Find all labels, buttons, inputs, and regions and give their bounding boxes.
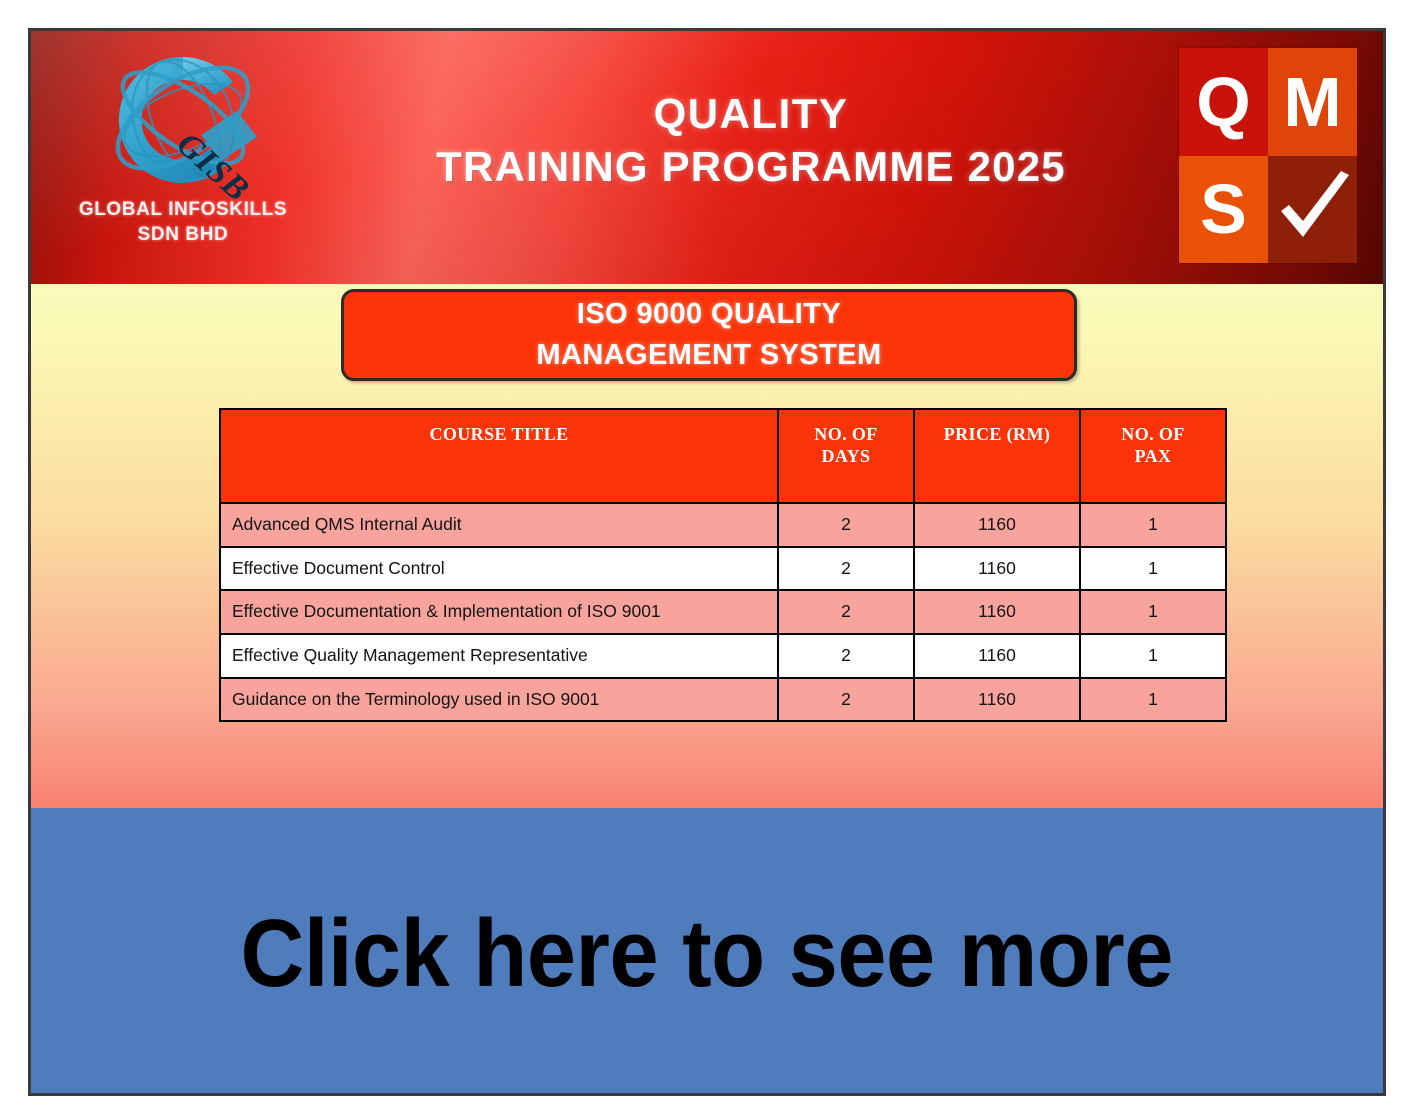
column-header-course-title: COURSE TITLE [220, 409, 778, 503]
cell-pax: 1 [1080, 503, 1226, 547]
company-name-line2: SDN BHD [53, 222, 313, 247]
cell-days: 2 [778, 547, 914, 591]
qms-letter-s: S [1179, 156, 1268, 264]
table-row: Effective Document Control 2 1160 1 [220, 547, 1226, 591]
course-table: COURSE TITLE NO. OF DAYS PRICE (RM) NO. … [219, 408, 1227, 722]
company-logo-block: GISB GLOBAL INFOSKILLS SDN BHD [53, 43, 313, 247]
section-banner-line1: ISO 9000 QUALITY [577, 294, 841, 335]
column-header-no-of-pax-line2: PAX [1135, 446, 1172, 466]
column-header-no-of-days: NO. OF DAYS [778, 409, 914, 503]
cell-course-title: Advanced QMS Internal Audit [220, 503, 778, 547]
cell-pax: 1 [1080, 547, 1226, 591]
cell-price: 1160 [914, 590, 1080, 634]
content-area: ISO 9000 QUALITY MANAGEMENT SYSTEM COURS… [31, 284, 1383, 814]
table-row: Effective Quality Management Representat… [220, 634, 1226, 678]
cell-pax: 1 [1080, 590, 1226, 634]
company-name: GLOBAL INFOSKILLS SDN BHD [53, 197, 313, 247]
cell-course-title: Effective Documentation & Implementation… [220, 590, 778, 634]
globe-icon: GISB [83, 43, 283, 203]
cell-days: 2 [778, 678, 914, 722]
page-title-line2: TRAINING PROGRAMME 2025 [331, 139, 1171, 196]
page-title-line1: QUALITY [331, 89, 1171, 139]
cell-price: 1160 [914, 678, 1080, 722]
cell-course-title: Effective Document Control [220, 547, 778, 591]
section-banner: ISO 9000 QUALITY MANAGEMENT SYSTEM [341, 289, 1077, 381]
cell-days: 2 [778, 590, 914, 634]
see-more-button[interactable]: Click here to see more [31, 808, 1383, 1093]
column-header-no-of-days-line1: NO. OF [814, 424, 877, 444]
cell-days: 2 [778, 634, 914, 678]
table-header-row: COURSE TITLE NO. OF DAYS PRICE (RM) NO. … [220, 409, 1226, 503]
column-header-no-of-pax-line1: NO. OF [1121, 424, 1184, 444]
check-mark-icon [1268, 156, 1357, 264]
cell-course-title: Guidance on the Terminology used in ISO … [220, 678, 778, 722]
column-header-price: PRICE (RM) [914, 409, 1080, 503]
cell-price: 1160 [914, 503, 1080, 547]
slide-frame: GISB GLOBAL INFOSKILLS SDN BHD QUALITY T… [28, 28, 1386, 1096]
column-header-no-of-pax: NO. OF PAX [1080, 409, 1226, 503]
table-row: Guidance on the Terminology used in ISO … [220, 678, 1226, 722]
table-row: Effective Documentation & Implementation… [220, 590, 1226, 634]
column-header-no-of-days-line2: DAYS [822, 446, 871, 466]
cell-days: 2 [778, 503, 914, 547]
cell-pax: 1 [1080, 634, 1226, 678]
qms-letter-q: Q [1179, 48, 1268, 156]
header-banner: GISB GLOBAL INFOSKILLS SDN BHD QUALITY T… [31, 31, 1383, 284]
table-row: Advanced QMS Internal Audit 2 1160 1 [220, 503, 1226, 547]
section-banner-line2: MANAGEMENT SYSTEM [536, 335, 881, 376]
qms-letter-m: M [1268, 48, 1357, 156]
qms-logo: Q M S [1179, 48, 1357, 263]
cell-price: 1160 [914, 634, 1080, 678]
cell-course-title: Effective Quality Management Representat… [220, 634, 778, 678]
cell-price: 1160 [914, 547, 1080, 591]
cell-pax: 1 [1080, 678, 1226, 722]
page-title: QUALITY TRAINING PROGRAMME 2025 [331, 89, 1171, 195]
see-more-label: Click here to see more [241, 906, 1173, 1002]
